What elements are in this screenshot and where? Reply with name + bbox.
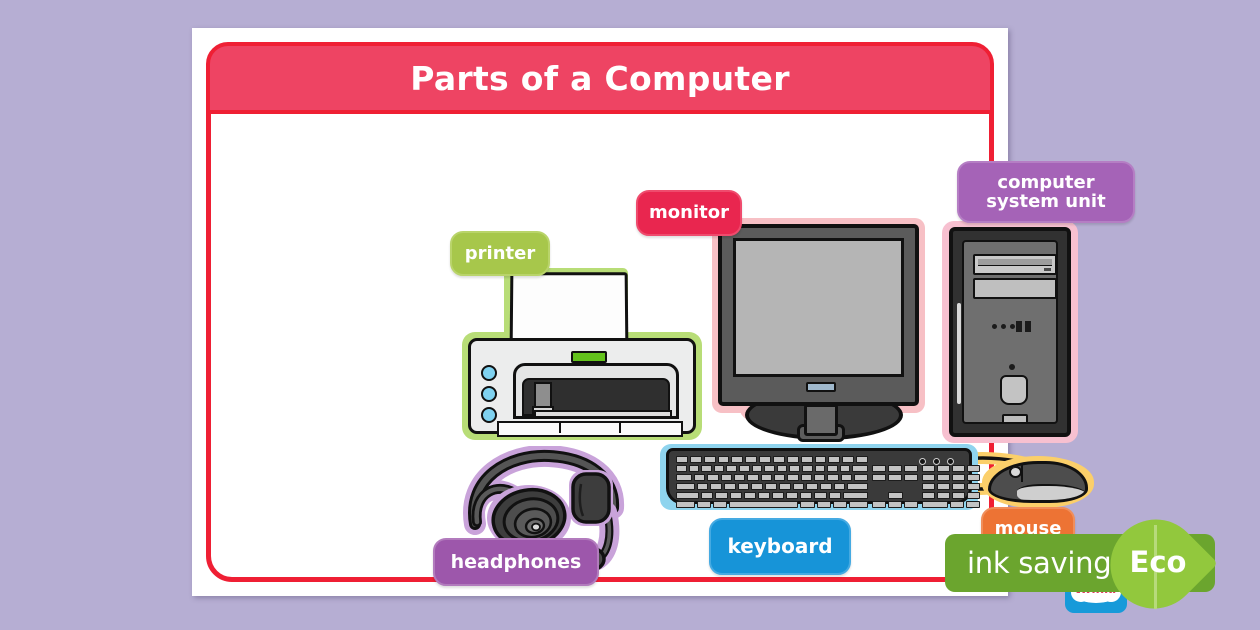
printer-button-icon <box>481 407 497 423</box>
eco-badge-text: ink saving <box>945 546 1111 580</box>
power-button-icon <box>1000 375 1028 405</box>
monitor-neck <box>804 404 838 436</box>
label-monitor[interactable]: monitor <box>636 190 742 236</box>
keyboard-navigation-cluster <box>872 456 918 510</box>
power-led-icon <box>1009 364 1015 370</box>
monitor-illustration <box>712 218 947 453</box>
label-printer-text: printer <box>465 244 535 263</box>
label-headphones-text: headphones <box>451 552 582 573</box>
printer-status-led-icon <box>571 351 607 363</box>
system-unit-illustration <box>942 221 1078 443</box>
label-monitor-text: monitor <box>649 203 729 222</box>
keyboard-indicator-leds-icon <box>919 458 954 465</box>
monitor-screen <box>733 238 904 377</box>
drive-bay <box>973 278 1057 299</box>
system-unit-case <box>949 227 1071 437</box>
front-indicator-lights-icon <box>992 324 1015 329</box>
poster-canvas: Parts of a Computer <box>0 0 1260 630</box>
label-system-unit[interactable]: computer system unit <box>957 161 1135 223</box>
poster-sheet: Parts of a Computer <box>192 28 1008 596</box>
label-system-unit-line2: system unit <box>986 192 1105 211</box>
label-keyboard[interactable]: keyboard <box>709 518 851 575</box>
optical-drive-bay <box>973 254 1057 275</box>
printer-body <box>468 338 696 434</box>
printer-paper-tray <box>510 272 629 348</box>
keyboard-main-keys <box>676 456 868 510</box>
keyboard-body <box>666 448 972 504</box>
printer-button-icon <box>481 365 497 381</box>
printer-button-icon <box>481 386 497 402</box>
label-printer[interactable]: printer <box>450 231 550 276</box>
scroll-wheel-icon <box>1009 466 1022 478</box>
label-keyboard-text: keyboard <box>727 536 832 558</box>
page-title: Parts of a Computer <box>410 59 790 98</box>
printer-illustration <box>462 268 702 440</box>
label-system-unit-line1: computer <box>997 173 1094 192</box>
printer-front-tray <box>497 421 683 437</box>
monitor-power-led-icon <box>806 382 836 392</box>
keyboard-illustration <box>660 444 978 510</box>
usb-ports-icon <box>1016 321 1031 332</box>
label-headphones[interactable]: headphones <box>433 538 599 586</box>
system-unit-front-panel <box>962 240 1058 424</box>
monitor-bezel <box>718 224 919 406</box>
poster-title-bar: Parts of a Computer <box>206 42 994 114</box>
printer-output-slot <box>513 363 679 419</box>
eco-badge-word: Eco <box>1123 545 1193 579</box>
